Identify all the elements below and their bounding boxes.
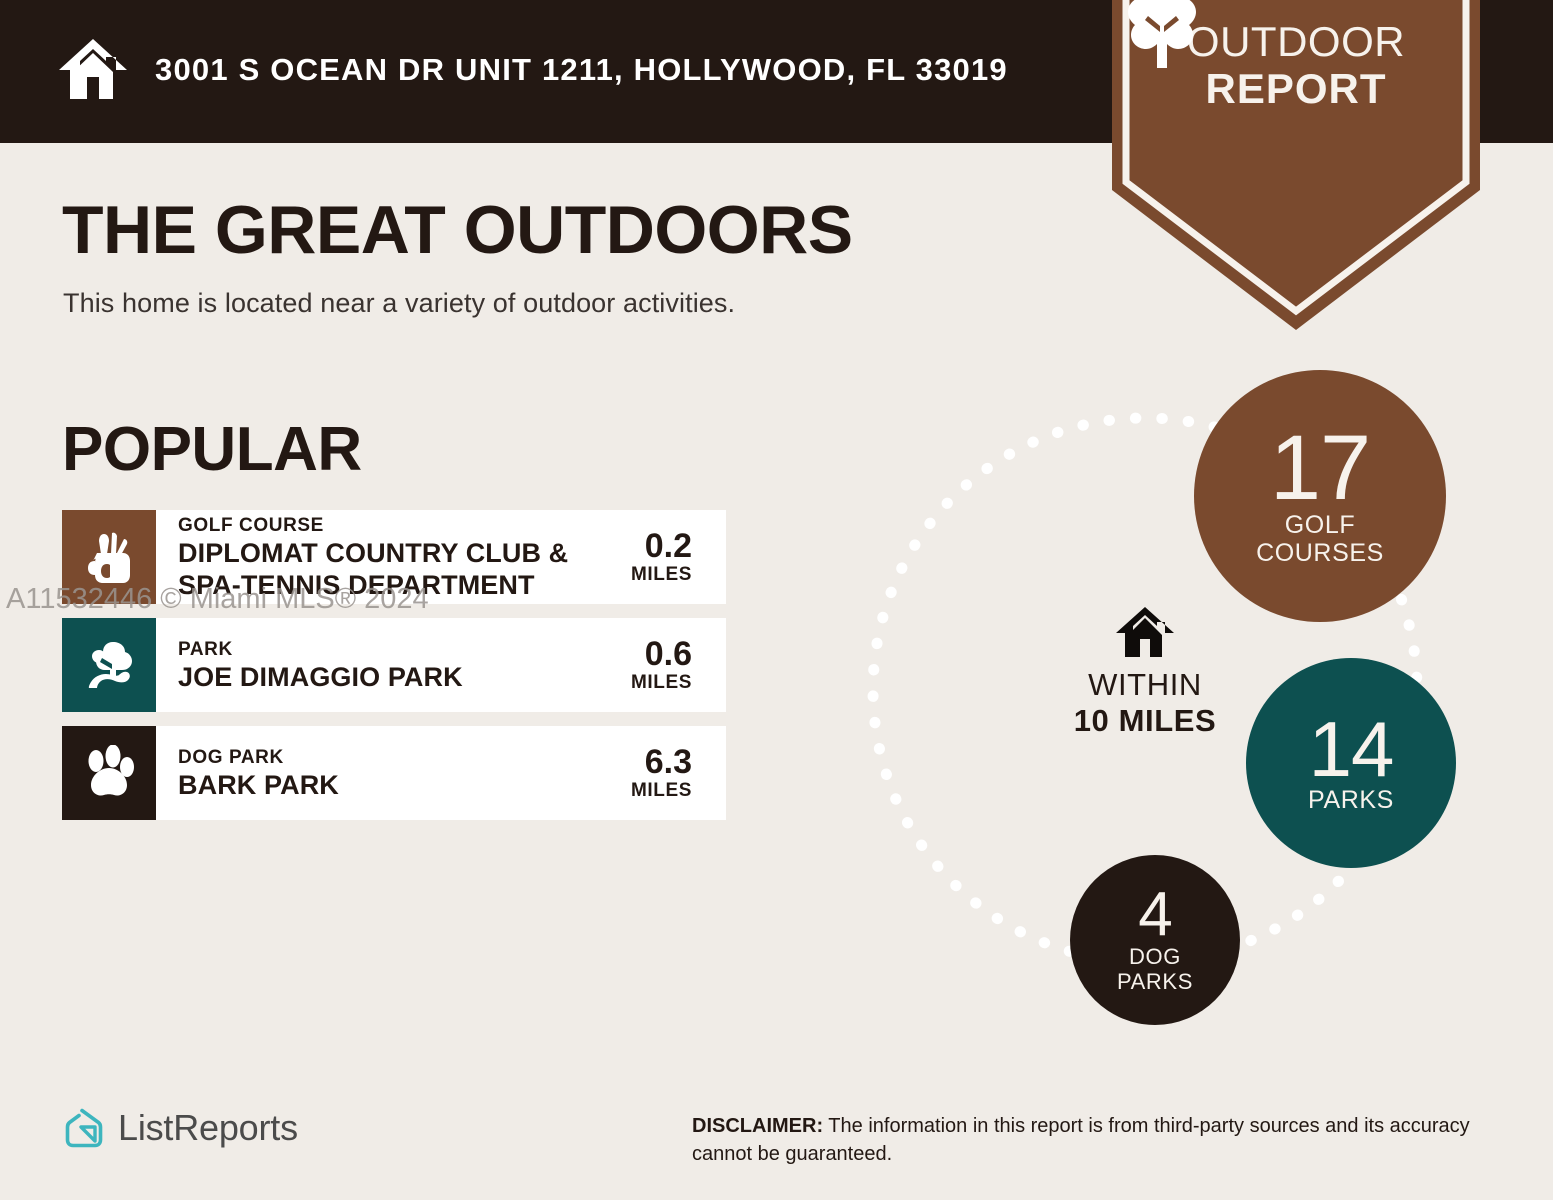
poi-body: DOG PARK BARK PARK 6.3 MILES	[156, 726, 726, 820]
list-item[interactable]: DOG PARK BARK PARK 6.3 MILES	[62, 726, 726, 820]
golf-bag-icon	[83, 528, 135, 586]
poi-category: GOLF COURSE	[178, 514, 631, 537]
stat-label-line1: DOG	[1117, 944, 1193, 969]
popular-list: GOLF COURSE DIPLOMAT COUNTRY CLUB & SPA-…	[62, 510, 726, 834]
poi-name: BARK PARK	[178, 769, 631, 801]
outdoor-report-badge: OUTDOOR REPORT	[1112, 0, 1480, 330]
badge-line2: REPORT	[1112, 65, 1480, 112]
poi-category: PARK	[178, 638, 631, 661]
disclaimer: DISCLAIMER: The information in this repo…	[692, 1112, 1492, 1168]
stat-label-line2: PARKS	[1117, 969, 1193, 994]
poi-category: DOG PARK	[178, 746, 631, 769]
poi-name: DIPLOMAT COUNTRY CLUB & SPA-TENNIS DEPAR…	[178, 537, 631, 601]
list-item[interactable]: PARK JOE DIMAGGIO PARK 0.6 MILES	[62, 618, 726, 712]
listreports-logo[interactable]: ListReports	[62, 1106, 298, 1150]
page-title: THE GREAT OUTDOORS	[62, 191, 853, 269]
poi-distance: 6.3 MILES	[631, 744, 712, 802]
poi-icon-tile	[62, 510, 156, 604]
ring-center-line2: 10 MILES	[1045, 703, 1245, 739]
stat-label-line1: GOLF	[1256, 511, 1384, 539]
poi-texts: GOLF COURSE DIPLOMAT COUNTRY CLUB & SPA-…	[178, 514, 631, 601]
poi-distance-unit: MILES	[631, 672, 692, 694]
stat-label-line2: COURSES	[1256, 539, 1384, 567]
property-address: 3001 S OCEAN DR UNIT 1211, HOLLYWOOD, FL…	[155, 52, 1008, 88]
stat-label: DOG PARKS	[1117, 944, 1193, 994]
stat-circle-dog-parks: 4 DOG PARKS	[1070, 855, 1240, 1025]
within-radius-diagram: 17 GOLF COURSES 14 PARKS 4 DOG PARKS WIT…	[820, 340, 1520, 1060]
stat-value: 4	[1138, 886, 1171, 944]
poi-distance-unit: MILES	[631, 780, 692, 802]
page-subtitle: This home is located near a variety of o…	[63, 288, 735, 319]
disclaimer-label: DISCLAIMER:	[692, 1115, 823, 1137]
park-tree-icon	[80, 636, 138, 694]
poi-body: GOLF COURSE DIPLOMAT COUNTRY CLUB & SPA-…	[156, 510, 726, 604]
house-icon	[57, 37, 129, 101]
section-title-popular: POPULAR	[62, 414, 362, 485]
poi-texts: PARK JOE DIMAGGIO PARK	[178, 638, 631, 693]
house-icon	[1114, 605, 1176, 659]
tree-icon	[1112, 0, 1212, 68]
poi-body: PARK JOE DIMAGGIO PARK 0.6 MILES	[156, 618, 726, 712]
poi-distance-unit: MILES	[631, 564, 692, 586]
stat-circle-parks: 14 PARKS	[1246, 658, 1456, 868]
badge-line1: OUTDOOR	[1187, 18, 1405, 65]
poi-distance: 0.2 MILES	[631, 528, 712, 586]
listreports-logo-text: ListReports	[118, 1107, 298, 1149]
stat-label-line1: PARKS	[1308, 786, 1394, 814]
stat-circle-golf-courses: 17 GOLF COURSES	[1194, 370, 1446, 622]
poi-icon-tile	[62, 618, 156, 712]
poi-distance-value: 0.2	[631, 528, 692, 564]
stat-label: PARKS	[1308, 786, 1394, 814]
poi-icon-tile	[62, 726, 156, 820]
listreports-house-tag-icon	[62, 1106, 106, 1150]
stat-value: 14	[1309, 712, 1394, 786]
poi-distance-value: 0.6	[631, 636, 692, 672]
list-item[interactable]: GOLF COURSE DIPLOMAT COUNTRY CLUB & SPA-…	[62, 510, 726, 604]
poi-name: JOE DIMAGGIO PARK	[178, 661, 631, 693]
ring-center-block: WITHIN 10 MILES	[1045, 605, 1245, 739]
stat-label: GOLF COURSES	[1256, 511, 1384, 567]
paw-print-icon	[82, 745, 136, 801]
poi-distance-value: 6.3	[631, 744, 692, 780]
ring-center-line1: WITHIN	[1045, 667, 1245, 703]
stat-value: 17	[1270, 425, 1370, 511]
poi-texts: DOG PARK BARK PARK	[178, 746, 631, 801]
poi-distance: 0.6 MILES	[631, 636, 712, 694]
